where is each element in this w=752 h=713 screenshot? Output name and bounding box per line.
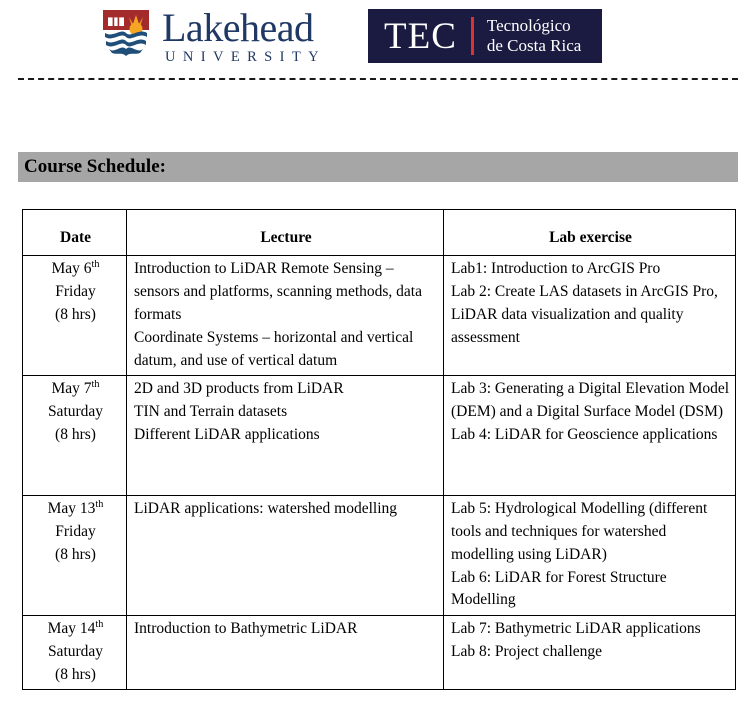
date-hours: (8 hrs): [30, 544, 121, 567]
column-header-lab-exercise: Lab exercise: [444, 210, 736, 256]
cell-lab: Lab 7: Bathymetric LiDAR applications La…: [444, 615, 736, 689]
date-weekday: Saturday: [30, 641, 121, 664]
date-day: May 6th: [30, 258, 121, 281]
column-header-date: Date: [23, 210, 127, 256]
date-day: May 13th: [30, 498, 121, 521]
table-body: May 6th Friday (8 hrs) Introduction to L…: [23, 256, 736, 690]
dashed-rule: [18, 78, 738, 80]
date-weekday: Friday: [30, 521, 121, 544]
lakehead-name: Lakehead: [162, 8, 326, 47]
cell-lecture: Introduction to Bathymetric LiDAR: [127, 615, 444, 689]
date-day-text: May 7: [52, 380, 92, 397]
date-ordinal: th: [92, 379, 100, 390]
date-ordinal: th: [95, 619, 103, 630]
lab-item: Lab 2: Create LAS datasets in ArcGIS Pro…: [451, 281, 730, 350]
course-schedule-banner: Course Schedule:: [18, 152, 738, 182]
table-row: May 6th Friday (8 hrs) Introduction to L…: [23, 256, 736, 376]
lakehead-shield-crest-icon: [100, 7, 152, 65]
cell-lab: Lab 5: Hydrological Modelling (different…: [444, 495, 736, 615]
cell-lecture: Introduction to LiDAR Remote Sensing – s…: [127, 256, 444, 376]
date-hours: (8 hrs): [30, 424, 121, 447]
table-row: May 14th Saturday (8 hrs) Introduction t…: [23, 615, 736, 689]
cell-date: May 14th Saturday (8 hrs): [23, 615, 127, 689]
lab-item: Lab 7: Bathymetric LiDAR applications: [451, 618, 730, 641]
cell-date: May 13th Friday (8 hrs): [23, 495, 127, 615]
lakehead-wordmark: Lakehead UNIVERSITY: [162, 8, 326, 65]
lakehead-university-logo: Lakehead UNIVERSITY: [100, 7, 326, 65]
tec-wordmark-line1: Tecnológico: [487, 16, 581, 36]
date-day: May 14th: [30, 618, 121, 641]
lecture-item: Introduction to Bathymetric LiDAR: [134, 618, 438, 641]
lakehead-subtitle: UNIVERSITY: [162, 50, 326, 65]
column-header-lecture: Lecture: [127, 210, 444, 256]
cell-lab: Lab 3: Generating a Digital Elevation Mo…: [444, 375, 736, 495]
lecture-item: LiDAR applications: watershed modelling: [134, 498, 438, 521]
lab-item: Lab 5: Hydrological Modelling (different…: [451, 498, 730, 567]
table-header-row: Date Lecture Lab exercise: [23, 210, 736, 256]
lab-item: Lab 3: Generating a Digital Elevation Mo…: [451, 378, 730, 424]
lecture-item: TIN and Terrain datasets: [134, 401, 438, 424]
date-hours: (8 hrs): [30, 304, 121, 327]
table-row: May 7th Saturday (8 hrs) 2D and 3D produ…: [23, 375, 736, 495]
lab-item: Lab 6: LiDAR for Forest Structure Modell…: [451, 567, 730, 613]
table-row: May 13th Friday (8 hrs) LiDAR applicatio…: [23, 495, 736, 615]
date-day-text: May 6: [52, 260, 92, 277]
course-schedule-table: Date Lecture Lab exercise May 6th Friday…: [22, 209, 736, 690]
header-divider: [0, 78, 752, 80]
date-ordinal: th: [95, 499, 103, 510]
date-ordinal: th: [92, 259, 100, 270]
page-title: Course Schedule:: [24, 156, 166, 178]
cell-lab: Lab1: Introduction to ArcGIS Pro Lab 2: …: [444, 256, 736, 376]
date-day-text: May 13: [48, 500, 96, 517]
cell-date: May 6th Friday (8 hrs): [23, 256, 127, 376]
cell-lecture: LiDAR applications: watershed modelling: [127, 495, 444, 615]
date-weekday: Friday: [30, 281, 121, 304]
date-day-text: May 14: [48, 620, 96, 637]
lecture-item: Introduction to LiDAR Remote Sensing – s…: [134, 258, 438, 327]
tec-wordmark-line2: de Costa Rica: [487, 36, 581, 56]
tec-wordmark: Tecnológico de Costa Rica: [487, 16, 581, 56]
lecture-item: 2D and 3D products from LiDAR: [134, 378, 438, 401]
lecture-item: Different LiDAR applications: [134, 424, 438, 447]
date-hours: (8 hrs): [30, 664, 121, 687]
tec-divider: [471, 17, 474, 55]
tec-costa-rica-logo: TEC Tecnológico de Costa Rica: [368, 9, 602, 63]
lab-item: Lab 4: LiDAR for Geoscience applications: [451, 424, 730, 447]
lecture-item: Coordinate Systems – horizontal and vert…: [134, 327, 438, 373]
tec-mark: TEC: [384, 18, 457, 55]
lab-item: Lab1: Introduction to ArcGIS Pro: [451, 258, 730, 281]
date-day: May 7th: [30, 378, 121, 401]
page-header: Lakehead UNIVERSITY TEC Tecnológico de C…: [0, 0, 752, 72]
date-weekday: Saturday: [30, 401, 121, 424]
cell-lecture: 2D and 3D products from LiDAR TIN and Te…: [127, 375, 444, 495]
cell-date: May 7th Saturday (8 hrs): [23, 375, 127, 495]
table-header: Date Lecture Lab exercise: [23, 210, 736, 256]
lab-item: Lab 8: Project challenge: [451, 641, 730, 664]
course-schedule-table-wrapper: Date Lecture Lab exercise May 6th Friday…: [22, 209, 735, 690]
